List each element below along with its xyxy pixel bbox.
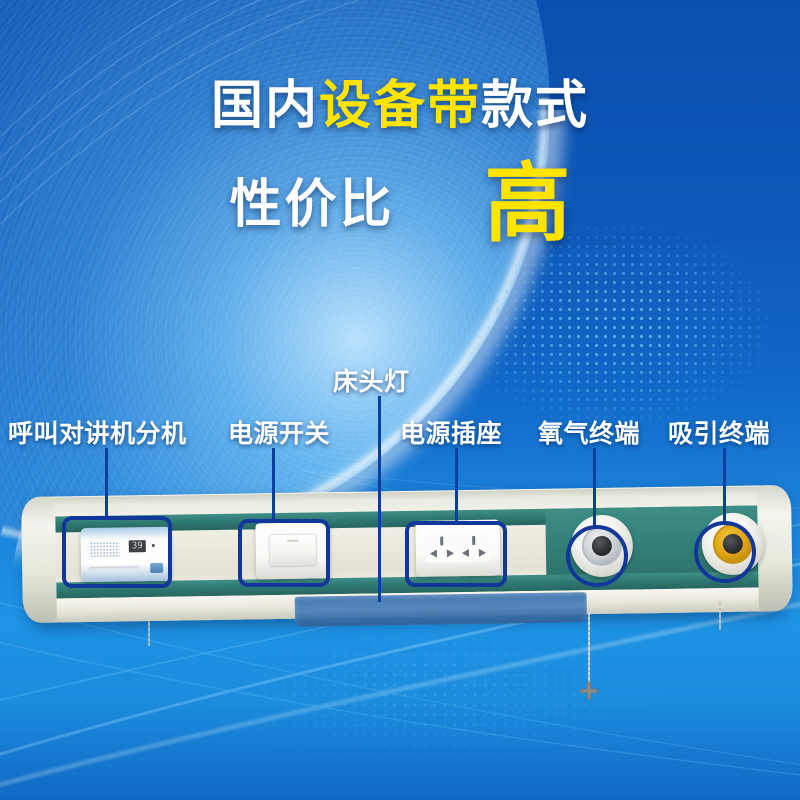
callout-label-oxygen-terminal: 氧气终端 <box>538 414 640 450</box>
callout-labels: 呼叫对讲机分机 电源开关 床头灯 电源插座 氧气终端 吸引终端 <box>0 0 800 800</box>
callout-label-power-socket: 电源插座 <box>400 414 502 450</box>
callout-leader-oxygen-terminal <box>593 448 596 528</box>
highlight-circle-oxygen <box>566 525 628 587</box>
callout-leader-intercom <box>105 448 108 516</box>
highlight-box-intercom <box>62 516 172 588</box>
callout-leader-power-socket <box>455 448 458 521</box>
highlight-box-socket <box>405 521 507 587</box>
callout-label-intercom: 呼叫对讲机分机 <box>8 414 187 450</box>
callout-label-power-switch: 电源开关 <box>228 414 330 450</box>
highlight-circle-suction <box>694 521 756 583</box>
highlight-box-switch <box>238 519 330 587</box>
callout-label-bed-lamp: 床头灯 <box>333 362 410 398</box>
callout-leader-suction-terminal <box>723 448 726 524</box>
promo-banner: 国内设备带款式 性价比 高 39 <box>0 0 800 800</box>
callout-leader-power-switch <box>272 448 275 519</box>
callout-label-suction-terminal: 吸引终端 <box>668 414 770 450</box>
callout-leader-bed-lamp <box>378 396 381 602</box>
